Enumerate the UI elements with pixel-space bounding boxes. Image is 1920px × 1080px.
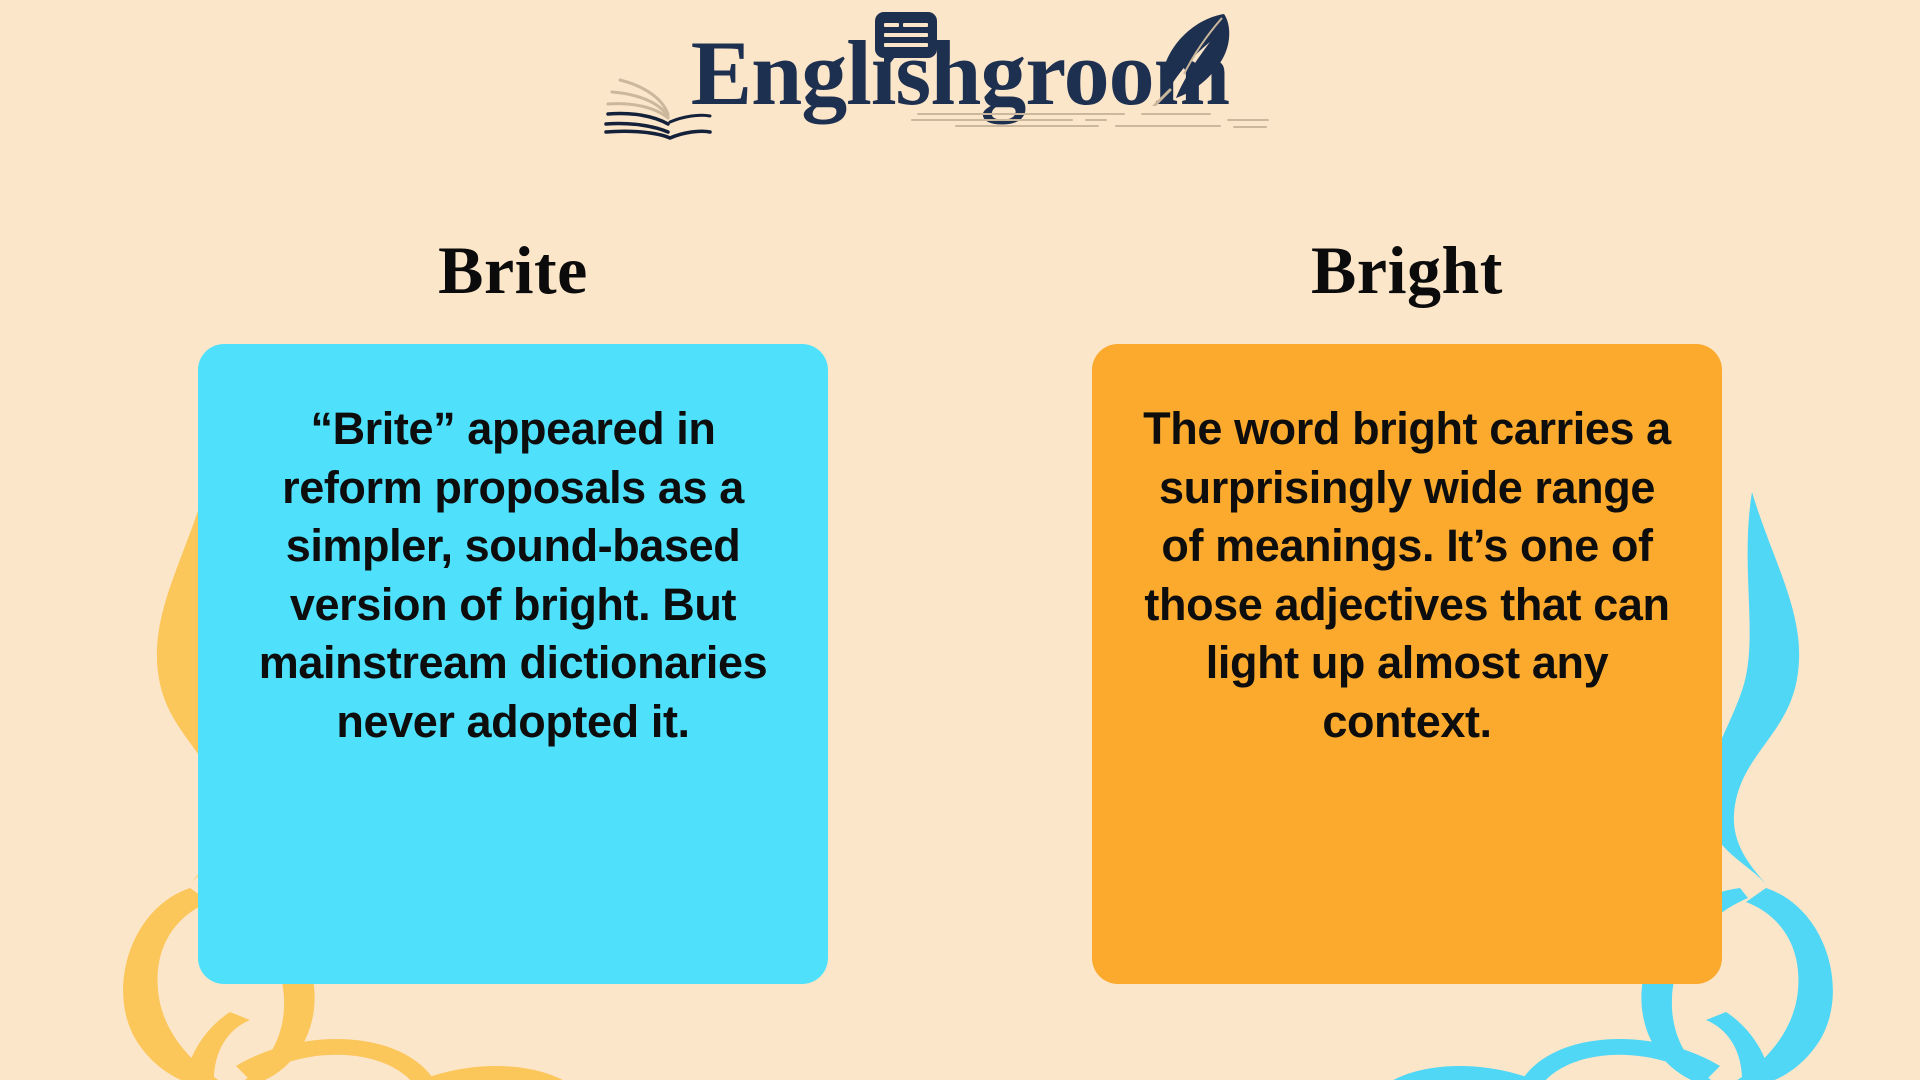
speech-bubble-icon: [875, 12, 937, 58]
quill-feather-icon: [1150, 10, 1234, 106]
open-book-icon: [604, 70, 712, 144]
definition-card-brite: “Brite” appeared in reform proposals as …: [198, 344, 828, 984]
site-logo[interactable]: Englishgroom: [0, 8, 1920, 158]
definition-card-bright: The word bright carries a surprisingly w…: [1092, 344, 1722, 984]
column-bright: Bright The word bright carries a surpris…: [1092, 236, 1722, 984]
word-title-brite: Brite: [438, 236, 588, 304]
definition-text-brite: “Brite” appeared in reform proposals as …: [244, 400, 782, 751]
column-brite: Brite “Brite” appeared in reform proposa…: [198, 236, 828, 984]
definition-text-bright: The word bright carries a surprisingly w…: [1138, 400, 1676, 751]
comparison-columns: Brite “Brite” appeared in reform proposa…: [0, 236, 1920, 984]
word-title-bright: Bright: [1311, 236, 1503, 304]
logo-underline-strokes: [910, 108, 1270, 138]
